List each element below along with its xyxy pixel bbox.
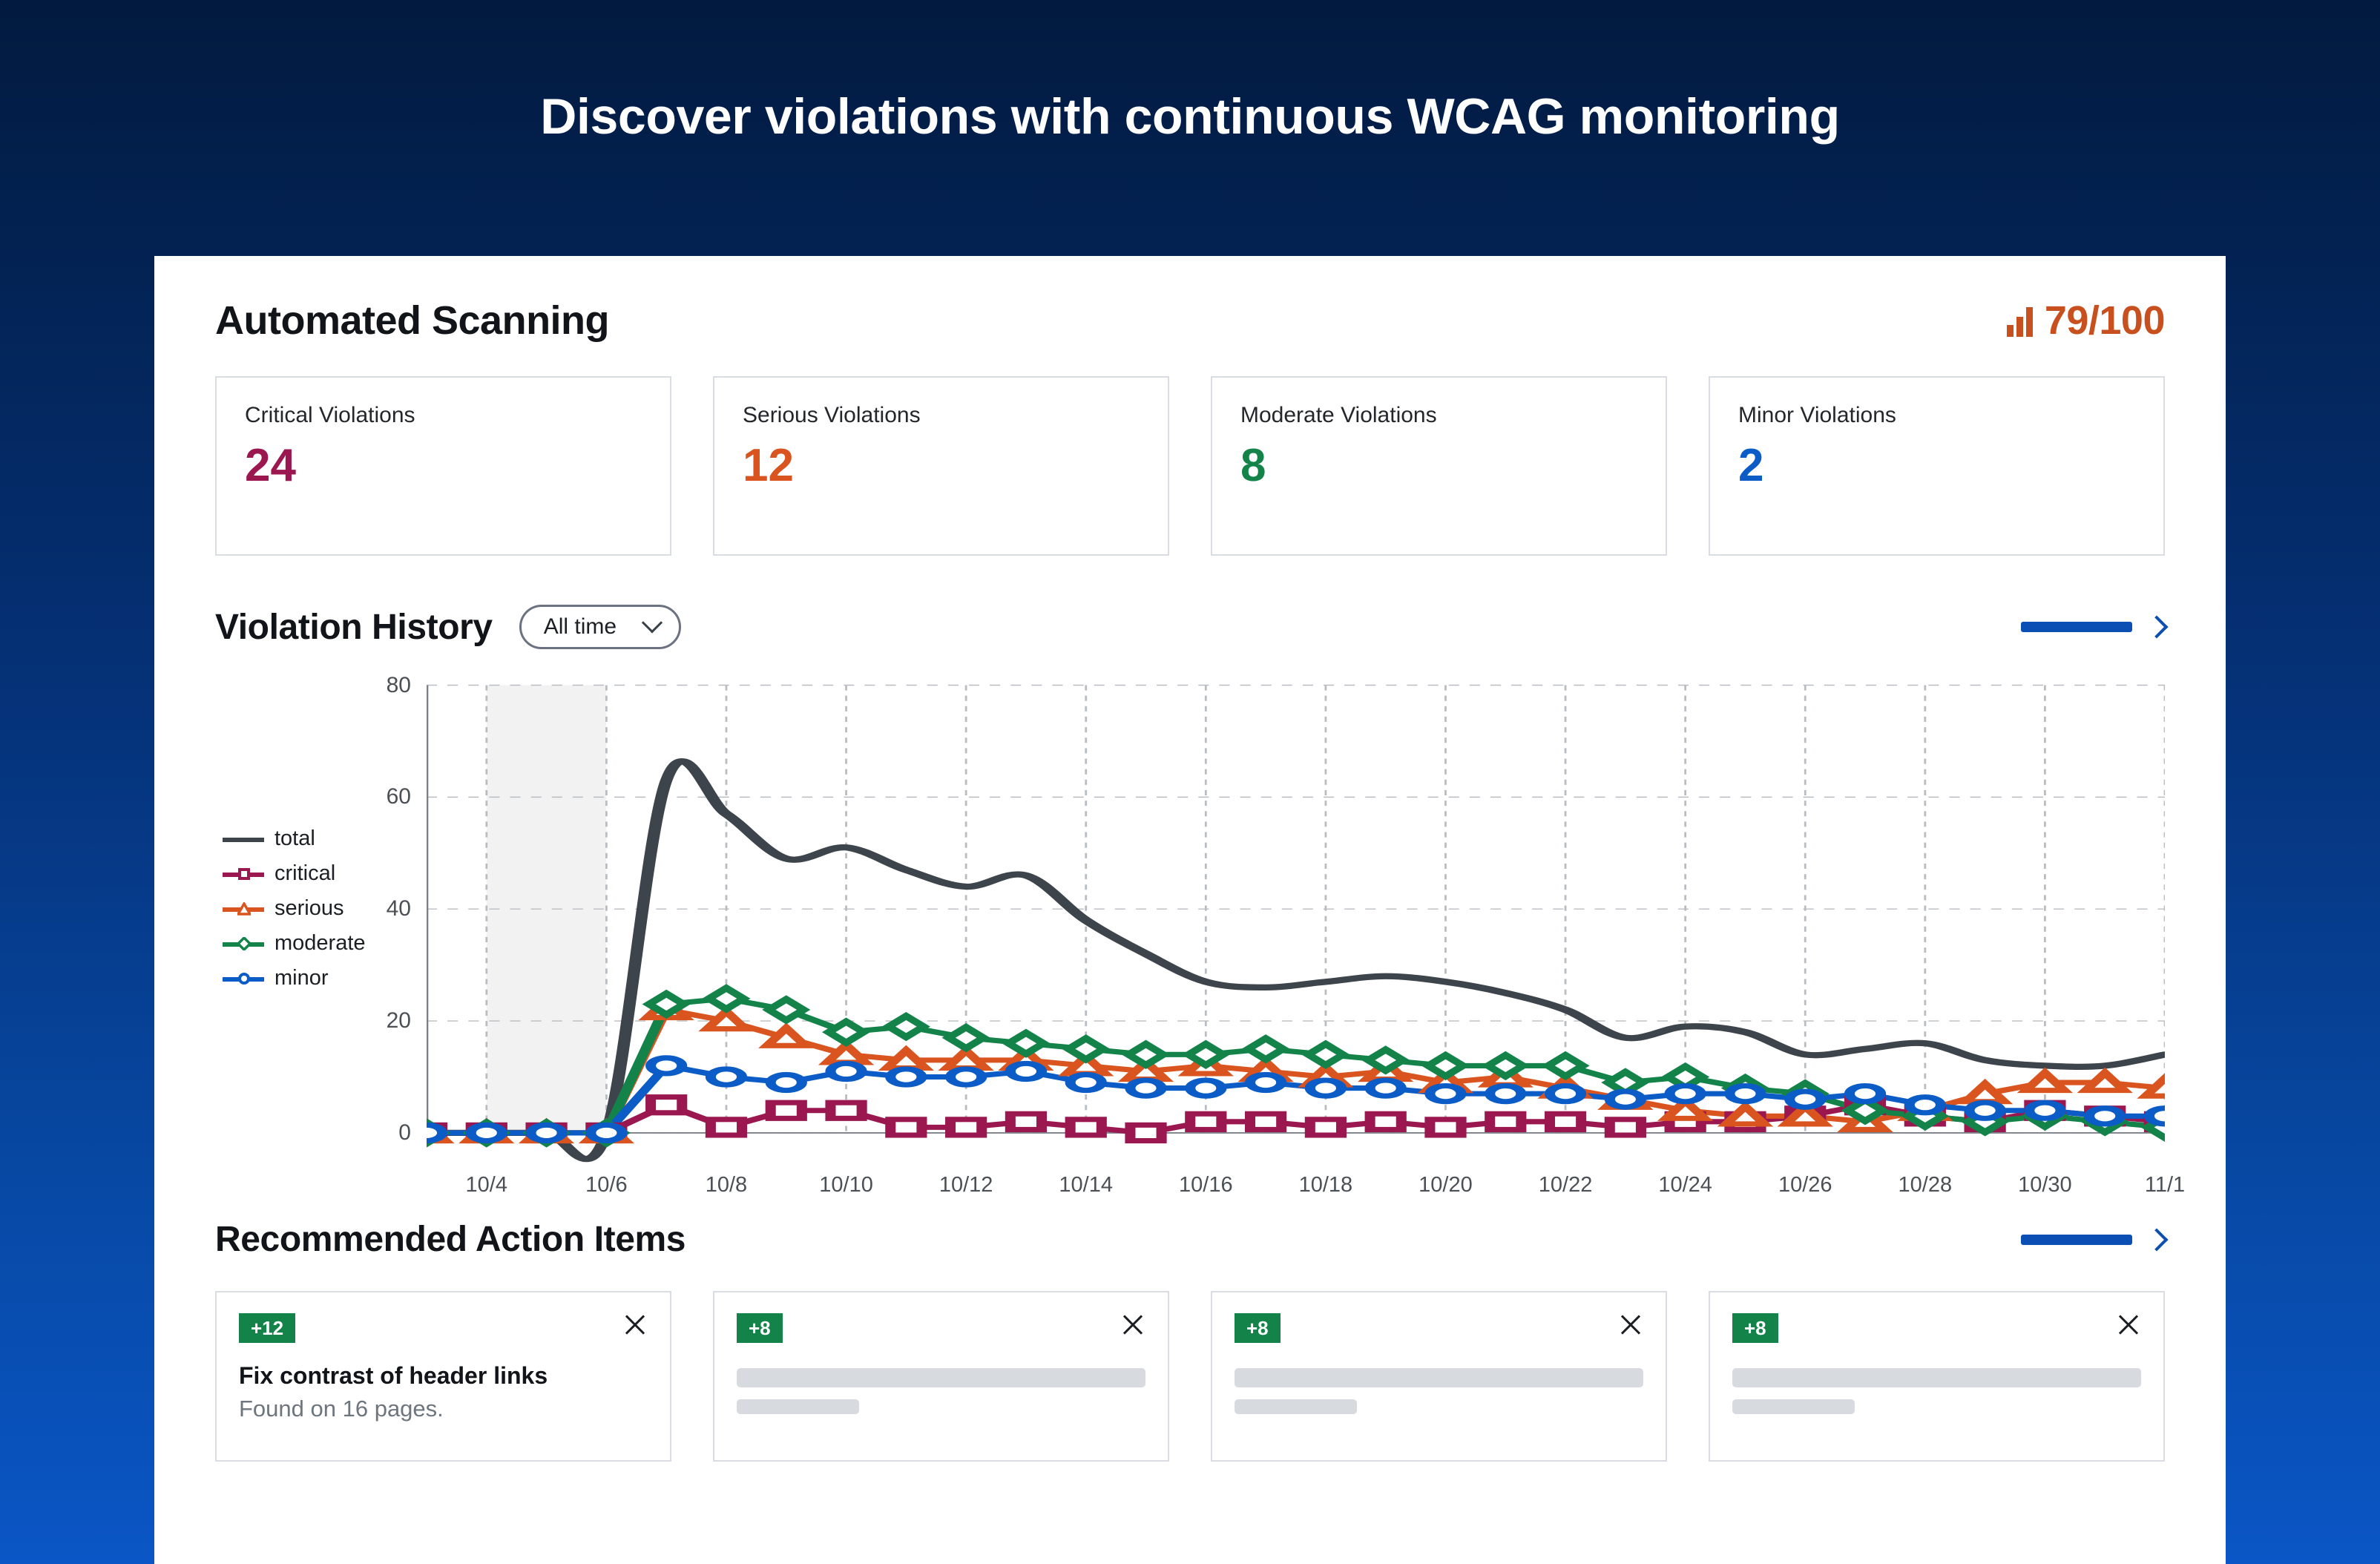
x-axis-tick: 10/14 [1059,1173,1113,1197]
violation-card-value: 8 [1240,443,1637,489]
violation-card-label: Serious Violations [743,403,1140,428]
action-item-card[interactable]: +12Fix contrast of header linksFound on … [215,1291,671,1462]
y-axis-tick: 80 [387,673,411,698]
violation-card-label: Minor Violations [1738,403,2135,428]
legend-label: moderate [275,931,366,956]
legend-marker-moderate [223,936,264,952]
link-bar [2021,622,2132,632]
action-item-badge: +8 [737,1313,783,1343]
legend-marker-critical [223,866,264,882]
violation-card[interactable]: Critical Violations24 [215,376,671,556]
x-axis-tick: 10/6 [585,1173,627,1197]
violation-history-header: Violation History All time [215,605,2165,649]
skeleton-line [1732,1399,1855,1414]
action-item-card[interactable]: +8 [1709,1291,2165,1462]
skeleton-line [1235,1368,1643,1387]
time-range-value: All time [544,614,617,640]
link-bar [2021,1235,2132,1245]
x-axis-tick: 10/12 [939,1173,993,1197]
violation-card-value: 24 [245,443,642,489]
x-axis-tick: 10/16 [1179,1173,1233,1197]
legend-label: serious [275,896,344,921]
close-icon[interactable] [622,1312,648,1337]
x-axis-tick: 10/22 [1539,1173,1593,1197]
chart-svg [427,673,2165,1163]
skeleton-line [1732,1368,2141,1387]
x-axis-tick: 10/30 [2018,1173,2072,1197]
close-icon[interactable] [1618,1312,1643,1337]
action-items-title: Recommended Action Items [215,1219,686,1260]
chevron-down-icon [642,612,663,633]
violation-card[interactable]: Moderate Violations8 [1211,376,1667,556]
x-axis-tick: 11/1 [2145,1173,2185,1197]
legend-label: critical [275,861,335,886]
action-item-badge: +12 [239,1313,295,1343]
score-value: 79/100 [2045,298,2165,344]
legend-marker-minor [223,970,264,987]
skeleton-line [737,1399,859,1414]
action-item-card[interactable]: +8 [713,1291,1169,1462]
action-items-list: +12Fix contrast of header linksFound on … [215,1291,2165,1462]
skeleton-line [1235,1399,1357,1414]
page-title: Discover violations with continuous WCAG… [0,88,2380,145]
action-item-badge: +8 [1235,1313,1281,1343]
bar-chart-icon [2007,304,2033,337]
dashboard-panel: Automated Scanning 79/100 Critical Viola… [154,256,2226,1564]
violation-card[interactable]: Serious Violations12 [713,376,1169,556]
x-axis-tick: 10/24 [1658,1173,1712,1197]
chevron-right-icon [2145,615,2168,638]
legend-marker-serious [223,901,264,917]
action-item-card[interactable]: +8 [1211,1291,1667,1462]
legend-item-moderate[interactable]: moderate [223,926,366,961]
legend-label: minor [275,966,329,990]
legend-item-serious[interactable]: serious [223,891,366,926]
legend-item-total[interactable]: total [223,821,366,856]
legend-label: total [275,827,315,851]
accessibility-score: 79/100 [2007,298,2165,344]
violation-card-value: 2 [1738,443,2135,489]
violation-history-link[interactable] [2021,619,2165,635]
chart-plot-area: 02040608010/410/610/810/1010/1210/1410/1… [427,673,2165,1163]
chart-legend: totalcriticalseriousmoderateminor [223,821,366,996]
action-item-badge: +8 [1732,1313,1778,1343]
violation-history-chart: totalcriticalseriousmoderateminor 020406… [215,673,2165,1163]
legend-item-critical[interactable]: critical [223,856,366,891]
skeleton-line [737,1368,1145,1387]
x-axis-tick: 10/10 [819,1173,873,1197]
action-items-link[interactable] [2021,1232,2165,1248]
x-axis-tick: 10/8 [706,1173,747,1197]
automated-scanning-header: Automated Scanning 79/100 [215,256,2165,344]
time-range-select[interactable]: All time [519,605,681,649]
action-items-header: Recommended Action Items [215,1219,2165,1260]
x-axis-tick: 10/4 [466,1173,507,1197]
x-axis-tick: 10/28 [1899,1173,1953,1197]
x-axis-tick: 10/26 [1778,1173,1832,1197]
action-item-subtitle: Found on 16 pages. [239,1396,648,1422]
close-icon[interactable] [2116,1312,2141,1337]
legend-marker-total [223,831,264,847]
y-axis-tick: 60 [387,784,411,809]
chevron-right-icon [2145,1228,2168,1251]
y-axis-tick: 20 [387,1008,411,1034]
y-axis-tick: 0 [398,1120,411,1146]
violation-summary-cards: Critical Violations24Serious Violations1… [215,376,2165,556]
x-axis-tick: 10/18 [1299,1173,1353,1197]
violation-history-title: Violation History [215,607,493,648]
violation-card-label: Moderate Violations [1240,403,1637,428]
x-axis-tick: 10/20 [1419,1173,1473,1197]
violation-card-value: 12 [743,443,1140,489]
automated-scanning-title: Automated Scanning [215,298,609,344]
close-icon[interactable] [1120,1312,1145,1337]
legend-item-minor[interactable]: minor [223,961,366,996]
violation-card[interactable]: Minor Violations2 [1709,376,2165,556]
violation-card-label: Critical Violations [245,403,642,428]
y-axis-tick: 40 [387,896,411,921]
action-item-title: Fix contrast of header links [239,1362,648,1390]
